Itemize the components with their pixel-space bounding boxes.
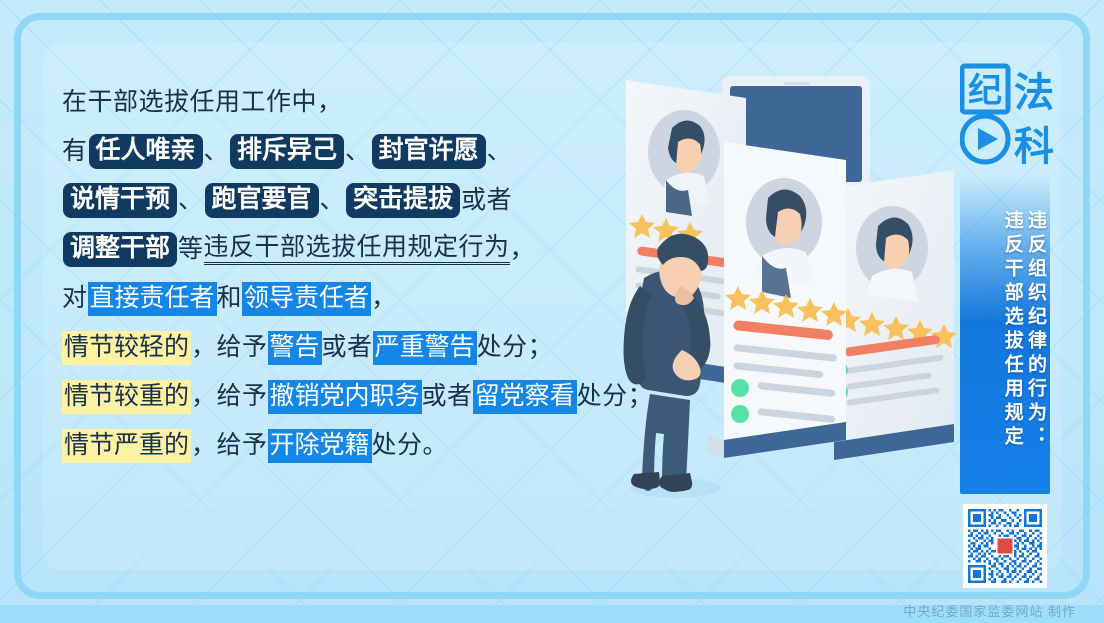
line3-tail: 或者 <box>461 188 512 213</box>
line6-mid-1: ，给予 <box>191 335 268 360</box>
copy-line-5: 对 直接责任者 和 领导责任者 ， <box>62 274 662 323</box>
copy-line-2: 有 任人唯亲 、 排斥异己 、 封官许愿 、 <box>62 127 662 176</box>
qr-center-seal <box>996 537 1014 555</box>
qr-code-container[interactable] <box>963 504 1047 588</box>
brand-logo[interactable]: 纪 法 科 <box>960 62 1056 174</box>
penalty-warning: 警告 <box>268 331 322 365</box>
copy-line-6: 情节较轻的 ，给予 警告 或者 严重警告 处分； <box>62 323 662 372</box>
credit-text: 中央纪委国家监委网站 制作 <box>903 601 1076 620</box>
line2-sep-2: 、 <box>345 139 371 164</box>
copy-line-1: 在干部选拔任用工作中， <box>62 78 662 127</box>
line3-sep-2: 、 <box>320 188 346 213</box>
play-triangle-icon <box>978 128 998 150</box>
vertical-title-banner: 违反组织纪律的行为： 违反干部选拔任用规定 <box>960 176 1050 494</box>
severity-heavy: 情节较重的 <box>62 380 191 414</box>
line1-text: 在干部选拔任用工作中， <box>62 90 343 115</box>
line2-lead: 有 <box>62 139 88 164</box>
vertical-title-left: 违反干部选拔任用规定 <box>1001 210 1022 450</box>
vertical-title-columns: 违反组织纪律的行为： 违反干部选拔任用规定 <box>1001 210 1046 450</box>
vertical-title-right: 违反组织纪律的行为： <box>1025 210 1046 450</box>
line5-mid: 和 <box>217 286 243 311</box>
penalty-expulsion: 开除党籍 <box>268 429 372 463</box>
penalty-serious-warning: 严重警告 <box>373 331 477 365</box>
responsible-party-leader: 领导责任者 <box>242 282 371 316</box>
logo-char-ke: 科 <box>1014 125 1054 169</box>
line3-sep-1: 、 <box>178 188 204 213</box>
line6-mid-2: 或者 <box>322 335 373 360</box>
line7-mid-2: 或者 <box>422 384 473 409</box>
copy-line-7: 情节较重的 ，给予 撤销党内职务 或者 留党察看 处分； <box>62 372 662 421</box>
line4-tail: ， <box>510 237 536 262</box>
responsible-party-direct: 直接责任者 <box>88 282 217 316</box>
copy-line-4: 调整干部 等 违反干部选拔任用规定行为 ， <box>62 225 662 274</box>
resume-card-3 <box>832 170 957 460</box>
line8-tail: 处分。 <box>372 433 449 458</box>
violation-pill-fengguanxuyuan: 封官许愿 <box>372 134 486 169</box>
poster-root: 在干部选拔任用工作中， 有 任人唯亲 、 排斥异己 、 封官许愿 、 说情干预 … <box>0 0 1104 623</box>
severity-light: 情节较轻的 <box>62 331 191 365</box>
violation-pill-tiaozhengganbu: 调整干部 <box>63 232 177 267</box>
line6-tail: 处分； <box>477 335 554 360</box>
penalty-remove-party-post: 撤销党内职务 <box>268 380 422 414</box>
line7-tail: 处分； <box>577 384 654 409</box>
line5-lead: 对 <box>62 286 88 311</box>
penalty-probation: 留党察看 <box>473 380 577 414</box>
violation-pill-shuoqingganyu: 说情干预 <box>63 183 177 218</box>
resume-card-2 <box>708 142 847 458</box>
logo-char-ji: 纪 <box>968 72 1002 110</box>
copy-line-3: 说情干预 、 跑官要官 、 突击提拔 或者 <box>62 176 662 225</box>
violation-pill-renrenweiqin: 任人唯亲 <box>89 134 203 169</box>
line5-tail: ， <box>371 286 397 311</box>
severity-severe: 情节严重的 <box>62 429 191 463</box>
line4-mid: 等 <box>178 237 204 262</box>
line2-sep-3: 、 <box>487 139 513 164</box>
body-copy: 在干部选拔任用工作中， 有 任人唯亲 、 排斥异己 、 封官许愿 、 说情干预 … <box>62 78 662 470</box>
copy-line-8: 情节严重的 ，给予 开除党籍 处分。 <box>62 421 662 470</box>
qr-code <box>968 509 1042 583</box>
logo-char-fa: 法 <box>1014 71 1054 115</box>
line4-underlined-clause: 违反干部选拔任用规定行为 <box>204 235 510 265</box>
right-rail: 纪 法 科 违反组织纪律的行为： 违反干部选拔任用规定 <box>960 62 1056 588</box>
line8-mid-1: ，给予 <box>191 433 268 458</box>
line7-mid-1: ，给予 <box>191 384 268 409</box>
violation-pill-paoguanyaoguan: 跑官要官 <box>205 183 319 218</box>
violation-pill-paichiyiji: 排斥异己 <box>230 134 344 169</box>
violation-pill-tujitiba: 突击提拔 <box>346 183 460 218</box>
line2-sep-1: 、 <box>204 139 230 164</box>
